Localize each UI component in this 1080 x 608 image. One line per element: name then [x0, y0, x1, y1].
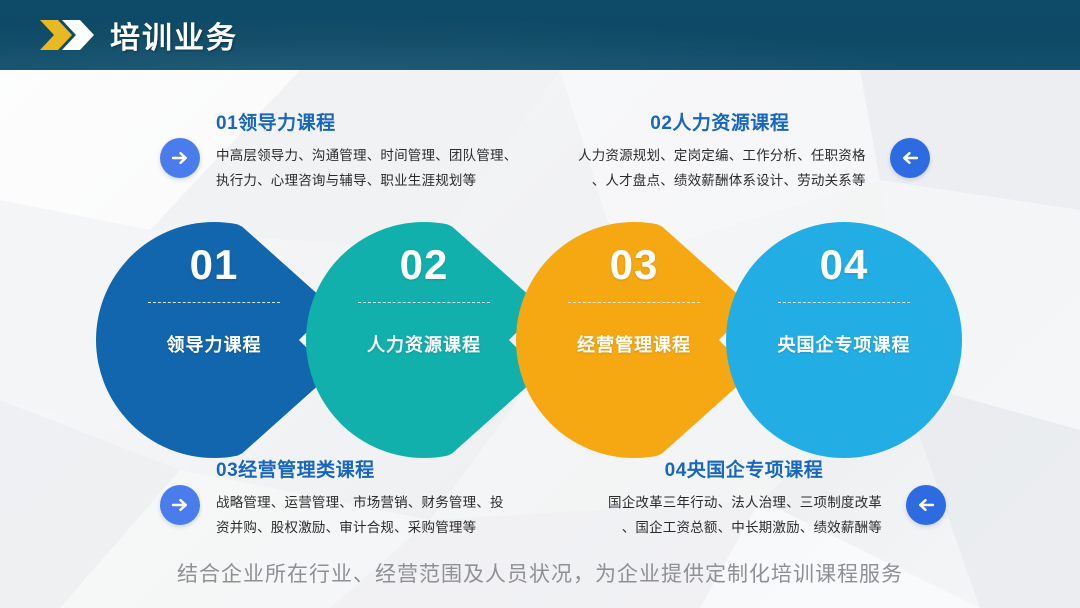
- callout-title: 02人力资源课程: [578, 108, 866, 135]
- callout-body-line: 、国企工资总额、中长期激励、绩效薪酬等: [608, 516, 882, 541]
- course-node-03[interactable]: 03 经营管理课程: [516, 222, 752, 458]
- callout-body-line: 人力资源规划、定岗定编、工作分析、任职资格: [578, 144, 866, 169]
- callout-title: 03经营管理类课程: [216, 455, 504, 482]
- arrow-left-icon[interactable]: [906, 485, 946, 525]
- callout-body: 人力资源规划、定岗定编、工作分析、任职资格 、人才盘点、绩效薪酬体系设计、劳动关…: [578, 144, 866, 194]
- course-node-01[interactable]: 01 领导力课程: [96, 222, 332, 458]
- node-divider: [778, 302, 910, 303]
- header-chevron-group: [38, 18, 96, 52]
- callout-text-block: 03经营管理类课程 战略管理、运营管理、市场营销、财务管理、投 资并购、股权激励…: [216, 455, 504, 541]
- course-node-row: 01 领导力课程 02 人力资源课程 03 经营管理课程 04 央国企专项课程: [0, 222, 1080, 458]
- node-label: 经营管理课程: [577, 331, 691, 357]
- callout-human-resources: 02人力资源课程 人力资源规划、定岗定编、工作分析、任职资格 、人才盘点、绩效薪…: [578, 108, 930, 194]
- node-number: 02: [400, 244, 449, 286]
- callout-title: 01领导力课程: [216, 108, 517, 135]
- course-node-04[interactable]: 04 央国企专项课程: [726, 222, 962, 458]
- callout-text-block: 01领导力课程 中高层领导力、沟通管理、时间管理、团队管理、 执行力、心理咨询与…: [216, 108, 517, 194]
- callout-body: 中高层领导力、沟通管理、时间管理、团队管理、 执行力、心理咨询与辅导、职业生涯规…: [216, 144, 517, 194]
- course-node-02[interactable]: 02 人力资源课程: [306, 222, 542, 458]
- callout-body: 国企改革三年行动、法人治理、三项制度改革 、国企工资总额、中长期激励、绩效薪酬等: [608, 491, 882, 541]
- header-bar: 培训业务: [0, 0, 1080, 70]
- node-divider: [568, 302, 700, 303]
- callout-soe-special: 04央国企专项课程 国企改革三年行动、法人治理、三项制度改革 、国企工资总额、中…: [608, 455, 946, 541]
- callout-body-line: 执行力、心理咨询与辅导、职业生涯规划等: [216, 169, 517, 194]
- node-number: 03: [610, 244, 659, 286]
- callout-body-line: 资并购、股权激励、审计合规、采购管理等: [216, 516, 504, 541]
- node-label: 央国企专项课程: [778, 331, 911, 357]
- callout-body-line: 中高层领导力、沟通管理、时间管理、团队管理、: [216, 144, 517, 169]
- footer-caption: 结合企业所在行业、经营范围及人员状况，为企业提供定制化培训课程服务: [0, 558, 1080, 588]
- callout-text-block: 04央国企专项课程 国企改革三年行动、法人治理、三项制度改革 、国企工资总额、中…: [608, 455, 882, 541]
- callout-body-line: 国企改革三年行动、法人治理、三项制度改革: [608, 491, 882, 516]
- arrow-right-icon[interactable]: [160, 138, 200, 178]
- arrow-right-icon[interactable]: [160, 485, 200, 525]
- arrow-left-icon[interactable]: [890, 138, 930, 178]
- callout-body-line: 、人才盘点、绩效薪酬体系设计、劳动关系等: [578, 169, 866, 194]
- node-divider: [148, 302, 280, 303]
- node-label: 领导力课程: [167, 331, 262, 357]
- callout-body-line: 战略管理、运营管理、市场营销、财务管理、投: [216, 491, 504, 516]
- node-divider: [358, 302, 490, 303]
- page-title: 培训业务: [110, 13, 238, 57]
- callout-body: 战略管理、运营管理、市场营销、财务管理、投 资并购、股权激励、审计合规、采购管理…: [216, 491, 504, 541]
- callout-business-management: 03经营管理类课程 战略管理、运营管理、市场营销、财务管理、投 资并购、股权激励…: [160, 455, 504, 541]
- callout-leadership: 01领导力课程 中高层领导力、沟通管理、时间管理、团队管理、 执行力、心理咨询与…: [160, 108, 517, 194]
- callout-text-block: 02人力资源课程 人力资源规划、定岗定编、工作分析、任职资格 、人才盘点、绩效薪…: [578, 108, 866, 194]
- slide-root: 培训业务 01领导力课程 中高层领导力、沟通管理、时间管理、团队管理、 执行力、…: [0, 0, 1080, 608]
- node-number: 01: [190, 244, 239, 286]
- callout-title: 04央国企专项课程: [608, 455, 882, 482]
- node-number: 04: [820, 244, 869, 286]
- node-label: 人力资源课程: [367, 331, 481, 357]
